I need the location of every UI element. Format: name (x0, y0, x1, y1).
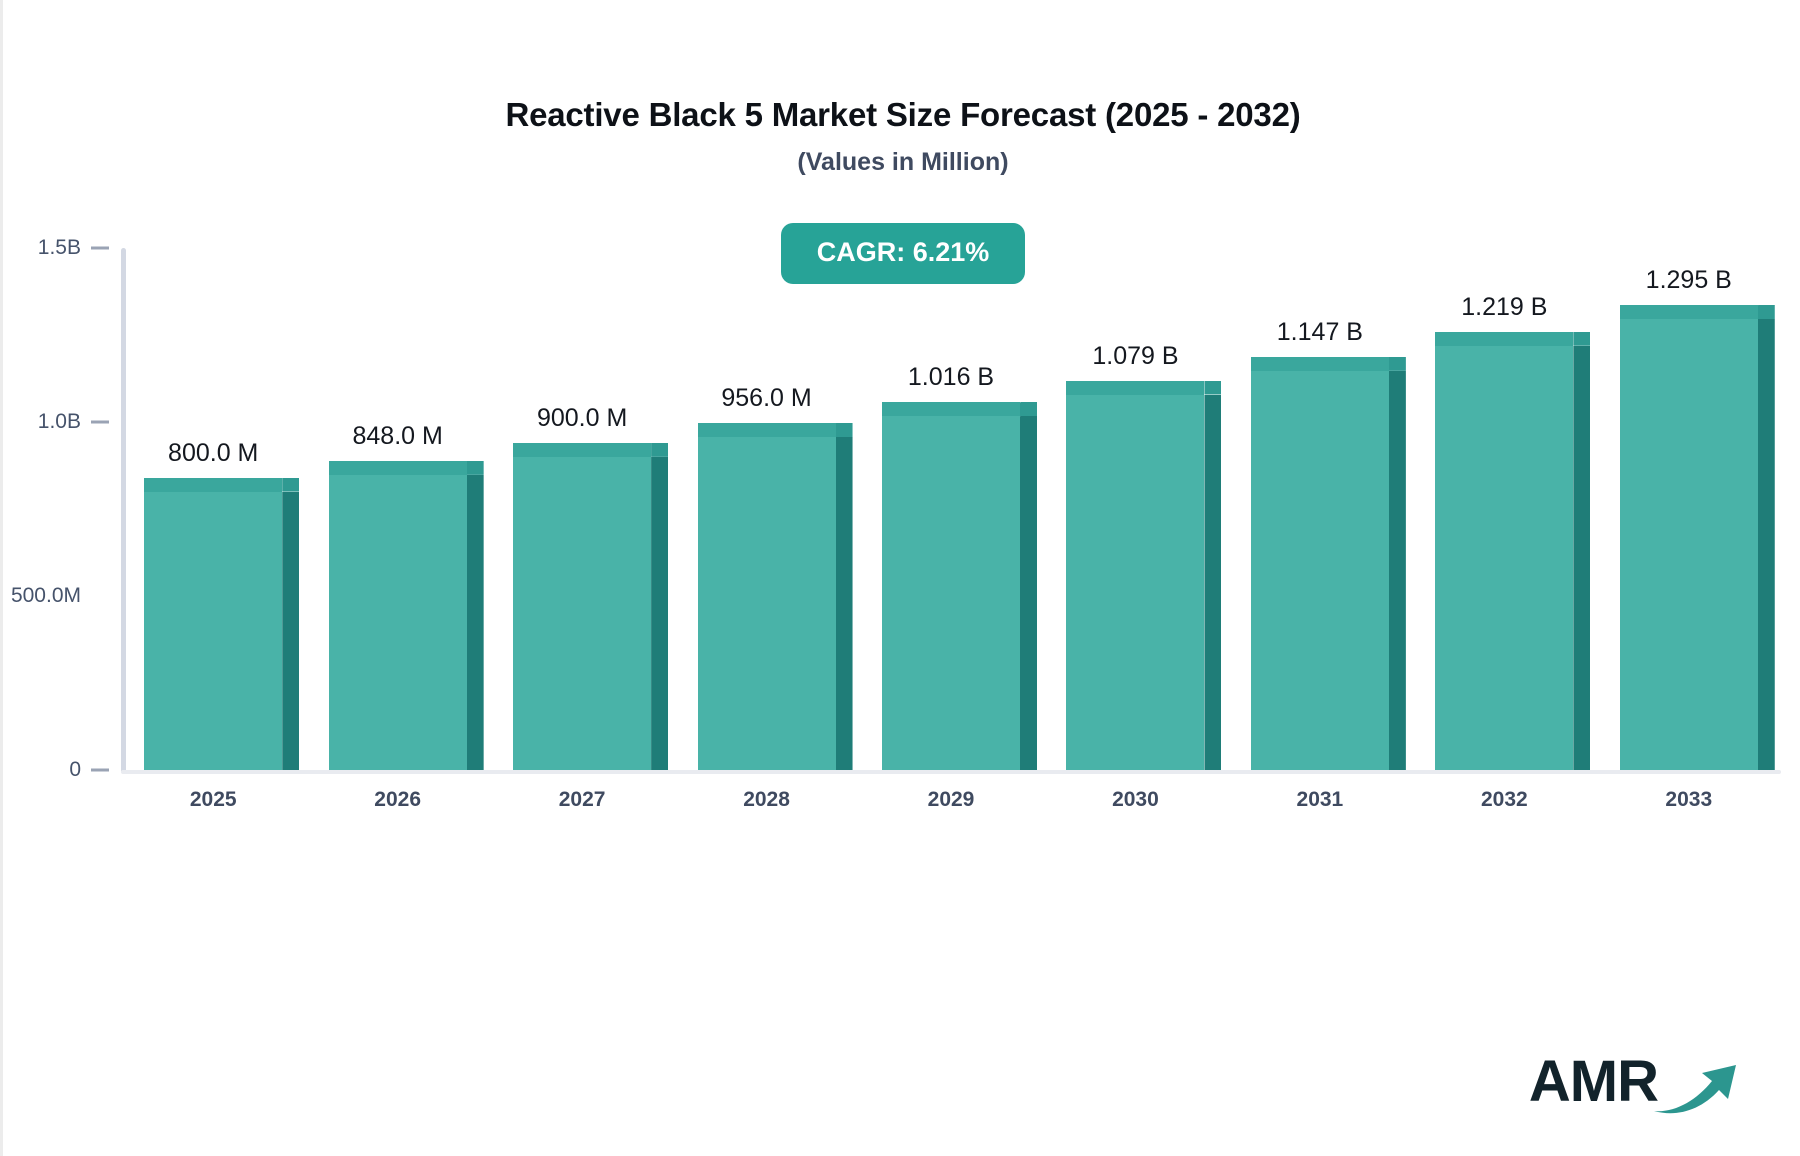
y-axis-tick-label: 0 (0, 758, 81, 782)
chart-subtitle: (Values in Million) (3, 148, 1800, 177)
bar-front-face (698, 437, 836, 770)
bar-value-label: 1.219 B (1461, 293, 1547, 322)
bar-top-face (513, 443, 651, 457)
x-axis-tick-label: 2029 (928, 788, 975, 812)
logo-text: AMR (1529, 1053, 1658, 1111)
bar-top-bevel (282, 478, 299, 492)
bar-top-face (882, 402, 1020, 416)
bar-front-face (329, 475, 467, 770)
bar-top-bevel (651, 443, 668, 457)
bar-column[interactable]: 956.0 M (698, 248, 836, 770)
bar-top-bevel (836, 423, 853, 437)
bar-top-face (1066, 381, 1204, 395)
bar-column[interactable]: 848.0 M (329, 248, 467, 770)
bar-side-face (1204, 395, 1221, 770)
bar-column[interactable]: 1.219 B (1435, 248, 1573, 770)
y-axis-tick-label: 500.0M (0, 584, 81, 608)
bar-top-bevel (1573, 332, 1590, 346)
bar[interactable] (882, 416, 1020, 770)
bar-top-face (1435, 332, 1573, 346)
bar-front-face (1066, 395, 1204, 770)
bar[interactable] (329, 475, 467, 770)
bar-top-bevel (1020, 402, 1037, 416)
x-axis-tick-label: 2028 (743, 788, 790, 812)
bar-value-label: 1.079 B (1092, 342, 1178, 371)
bar[interactable] (513, 457, 651, 770)
y-axis-tick-mark (91, 421, 109, 424)
bar-side-face (1758, 319, 1775, 770)
y-axis-tick-label: 1.0B (0, 410, 81, 434)
bar-value-label: 800.0 M (168, 439, 258, 468)
bar[interactable] (1620, 319, 1758, 770)
bar-top-face (144, 478, 282, 492)
amr-logo: AMR (1529, 1053, 1738, 1111)
bar[interactable] (1251, 371, 1389, 770)
bar-column[interactable]: 1.147 B (1251, 248, 1389, 770)
y-axis-tick-label: 1.5B (0, 236, 81, 260)
bar-value-label: 1.147 B (1277, 318, 1363, 347)
bar[interactable] (1066, 395, 1204, 770)
x-axis-tick-label: 2033 (1665, 788, 1712, 812)
x-axis-labels: 202520262027202820292030203120322033 (121, 788, 1781, 822)
bar-front-face (1435, 346, 1573, 770)
bar[interactable] (698, 437, 836, 770)
bar-front-face (513, 457, 651, 770)
bar-value-label: 1.016 B (908, 363, 994, 392)
bar-column[interactable]: 1.079 B (1066, 248, 1204, 770)
bar-front-face (882, 416, 1020, 770)
bar-top-bevel (467, 461, 484, 475)
bar-column[interactable]: 800.0 M (144, 248, 282, 770)
bar-value-label: 848.0 M (352, 422, 442, 451)
bar-column[interactable]: 900.0 M (513, 248, 651, 770)
x-axis-tick-label: 2032 (1481, 788, 1528, 812)
bar-top-face (1251, 357, 1389, 371)
chart-title: Reactive Black 5 Market Size Forecast (2… (3, 96, 1800, 134)
growth-arrow-icon (1652, 1055, 1738, 1120)
bar-top-bevel (1758, 305, 1775, 319)
bar[interactable] (1435, 346, 1573, 770)
bar-value-label: 1.295 B (1646, 266, 1732, 295)
bar-side-face (282, 492, 299, 770)
chart-canvas: Reactive Black 5 Market Size Forecast (2… (0, 0, 1800, 1156)
plot-area: 1.5B1.0B500.0M0 800.0 M848.0 M900.0 M956… (121, 248, 1781, 773)
bar[interactable] (144, 492, 282, 770)
bar-top-bevel (1204, 381, 1221, 395)
bar-side-face (1389, 371, 1406, 770)
bar-top-face (1620, 305, 1758, 319)
y-axis-tick-mark (91, 769, 109, 772)
x-axis-tick-label: 2026 (374, 788, 421, 812)
bar-top-face (698, 423, 836, 437)
bar-value-label: 956.0 M (721, 384, 811, 413)
y-axis-tick-mark (91, 247, 109, 250)
x-axis-tick-label: 2030 (1112, 788, 1159, 812)
bar-column[interactable]: 1.016 B (882, 248, 1020, 770)
bar-series: 800.0 M848.0 M900.0 M956.0 M1.016 B1.079… (121, 248, 1781, 773)
bar-front-face (144, 492, 282, 770)
bar-side-face (651, 457, 668, 770)
bar-front-face (1251, 371, 1389, 770)
x-axis-tick-label: 2025 (190, 788, 237, 812)
bar-column[interactable]: 1.295 B (1620, 248, 1758, 770)
bar-side-face (1020, 416, 1037, 770)
bar-front-face (1620, 319, 1758, 770)
bar-value-label: 900.0 M (537, 404, 627, 433)
x-axis-tick-label: 2027 (559, 788, 606, 812)
x-axis-tick-label: 2031 (1297, 788, 1344, 812)
bar-side-face (1573, 346, 1590, 770)
bar-side-face (836, 437, 853, 770)
bar-side-face (467, 475, 484, 770)
bar-top-bevel (1389, 357, 1406, 371)
bar-top-face (329, 461, 467, 475)
